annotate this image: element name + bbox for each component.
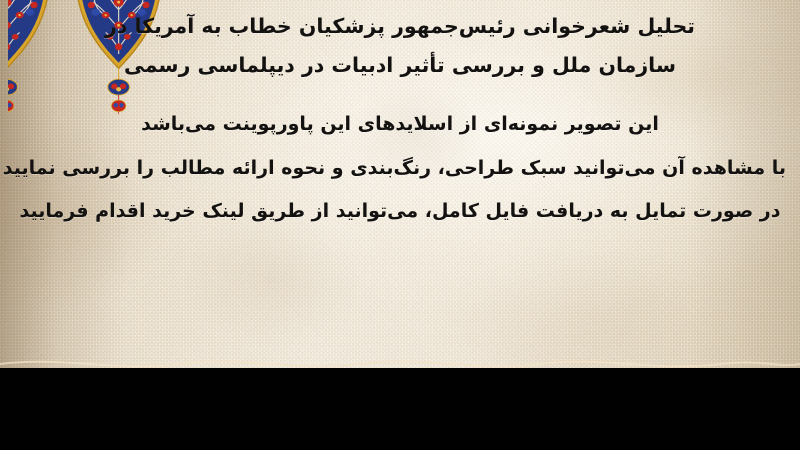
slide-body-line-2: با مشاهده آن می‌توانید سبک طراحی، رنگ‌بن… bbox=[14, 157, 786, 179]
slide-body-line-1: این تصویر نمونه‌ای از اسلایدهای این پاور… bbox=[14, 113, 786, 135]
slide-title-line-1: تحلیل شعرخوانی رئیس‌جمهور پزشکیان خطاب ب… bbox=[14, 14, 786, 38]
slide-title-line-2: سازمان ملل و بررسی تأثیر ادبیات در دیپلم… bbox=[14, 53, 786, 77]
carpet-fringe bbox=[0, 350, 800, 450]
slide-body-line-3: در صورت تمایل به دریافت فایل کامل، می‌تو… bbox=[14, 200, 786, 222]
fringe-tassels bbox=[0, 350, 800, 450]
presentation-slide: تحلیل شعرخوانی رئیس‌جمهور پزشکیان خطاب ب… bbox=[0, 0, 800, 450]
